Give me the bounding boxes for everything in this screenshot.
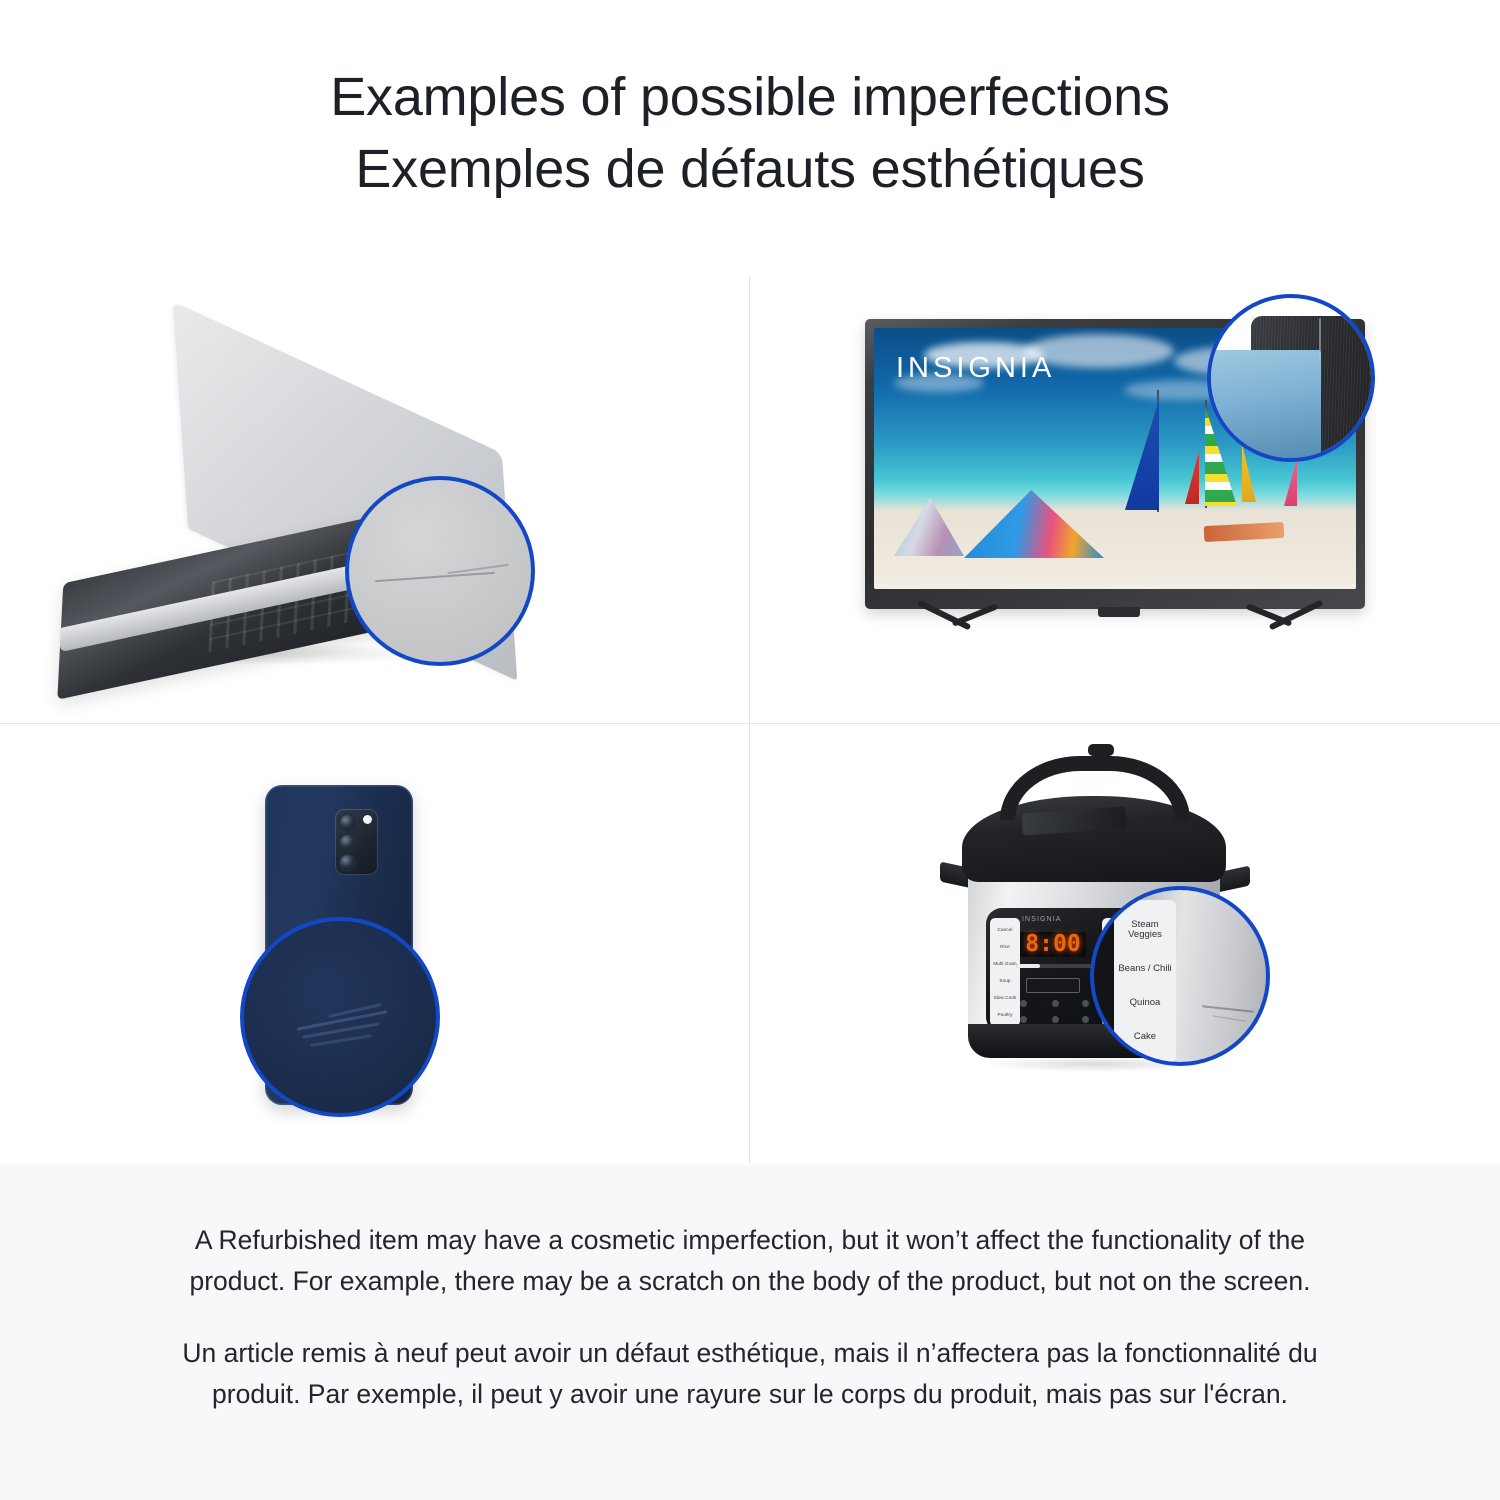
cooker-key-indicator — [1020, 1016, 1027, 1023]
sailboat-sail-red — [1185, 452, 1199, 504]
example-cell-laptop — [0, 276, 750, 720]
cooker-button-label[interactable]: Slow Cook — [994, 995, 1017, 1000]
phone-camera-lens-1 — [340, 815, 355, 830]
cooker-scratch-mark-2 — [1212, 1015, 1246, 1022]
cooker-magnified-button-label[interactable]: Steam Veggies — [1114, 920, 1176, 941]
laptop-illustration — [0, 276, 750, 720]
product-examples-grid: INSIGNIA — [0, 276, 1500, 1164]
laptop-scratch-magnifier — [345, 476, 535, 666]
cooker-button-label[interactable]: Rice — [1000, 944, 1010, 949]
page-title-fr: Exemples de défauts esthétiques — [80, 134, 1420, 206]
example-cell-phone — [0, 720, 750, 1164]
phone-scratch-mark-3 — [310, 1034, 372, 1046]
phone-camera-module — [335, 809, 378, 875]
cooker-button-column-left[interactable]: Cancel Rice Multi Grain Soup Slow Cook P… — [990, 918, 1020, 1026]
tv-bezel-seam-mark — [1319, 318, 1321, 362]
cooker-lid-handle — [1000, 756, 1190, 820]
cooker-button-label[interactable]: Poultry — [998, 1012, 1013, 1017]
phone-scratch-magnifier — [240, 917, 440, 1117]
page-header: Examples of possible imperfections Exemp… — [0, 0, 1500, 206]
cooker-pressure-valve — [1088, 744, 1114, 756]
phone-illustration — [0, 720, 750, 1164]
phone-camera-lens-3 — [340, 855, 355, 870]
cooker-key-indicator — [1020, 1000, 1027, 1007]
disclaimer-en: A Refurbished item may have a cosmetic i… — [150, 1220, 1350, 1301]
tv-illustration: INSIGNIA — [750, 276, 1500, 720]
cooker-magnified-button-label[interactable]: Beans / Chili — [1118, 964, 1171, 974]
sailboat-sail-blue — [1125, 400, 1159, 510]
phone-flash-icon — [363, 815, 372, 824]
beach-boat-right — [1204, 522, 1285, 542]
tv-magnified-screen-edge — [1211, 350, 1321, 462]
laptop-scratch-mark — [375, 572, 495, 582]
disclaimer-fr: Un article remis à neuf peut avoir un dé… — [150, 1333, 1350, 1414]
sailboat-sail-pink — [1284, 458, 1297, 506]
cooker-magnified-button-label[interactable]: Cake — [1134, 1032, 1156, 1042]
footer-disclaimer: A Refurbished item may have a cosmetic i… — [0, 1165, 1500, 1500]
beach-sand — [874, 551, 1356, 589]
cooker-scratch-mark-1 — [1202, 1005, 1254, 1012]
cooker-key-indicator — [1052, 1000, 1059, 1007]
cooker-button-label[interactable]: Cancel — [998, 927, 1013, 932]
tv-logo-tab — [1098, 607, 1140, 617]
grid-vertical-divider — [749, 276, 750, 1164]
cooker-led-display: 8:00 — [1020, 932, 1086, 957]
cooker-key-indicator — [1052, 1016, 1059, 1023]
tv-screen-brand-text: INSIGNIA — [896, 352, 1055, 385]
beach-tent-left — [894, 498, 964, 556]
cooker-panel-brand: INSIGNIA — [1022, 916, 1062, 923]
cooker-body-magnifier: Steam Veggies Beans / Chili Quinoa Cake — [1090, 886, 1270, 1066]
cooker-magnified-button-column[interactable]: Steam Veggies Beans / Chili Quinoa Cake — [1114, 900, 1176, 1062]
tv-bezel-magnifier — [1207, 294, 1375, 462]
phone-camera-lens-2 — [340, 835, 355, 850]
beach-tent-center — [964, 490, 1104, 558]
page-title-en: Examples of possible imperfections — [80, 62, 1420, 134]
cooker-key-indicator — [1082, 1016, 1089, 1023]
cooker-button-label[interactable]: Multi Grain — [993, 961, 1016, 966]
cooker-magnified-button-label[interactable]: Quinoa — [1130, 998, 1161, 1008]
cooker-mode-button[interactable] — [1026, 978, 1080, 993]
example-cell-tv: INSIGNIA — [750, 276, 1500, 720]
cooker-pressure-bar-fill — [1016, 964, 1040, 968]
example-cell-cooker: INSIGNIA 8:00 Cancel Rice Multi Grain So… — [750, 720, 1500, 1164]
cooker-button-label[interactable]: Soup — [999, 978, 1010, 983]
cooker-illustration: INSIGNIA 8:00 Cancel Rice Multi Grain So… — [750, 720, 1500, 1164]
cooker-key-indicator — [1082, 1000, 1089, 1007]
grid-horizontal-divider — [0, 723, 1500, 724]
